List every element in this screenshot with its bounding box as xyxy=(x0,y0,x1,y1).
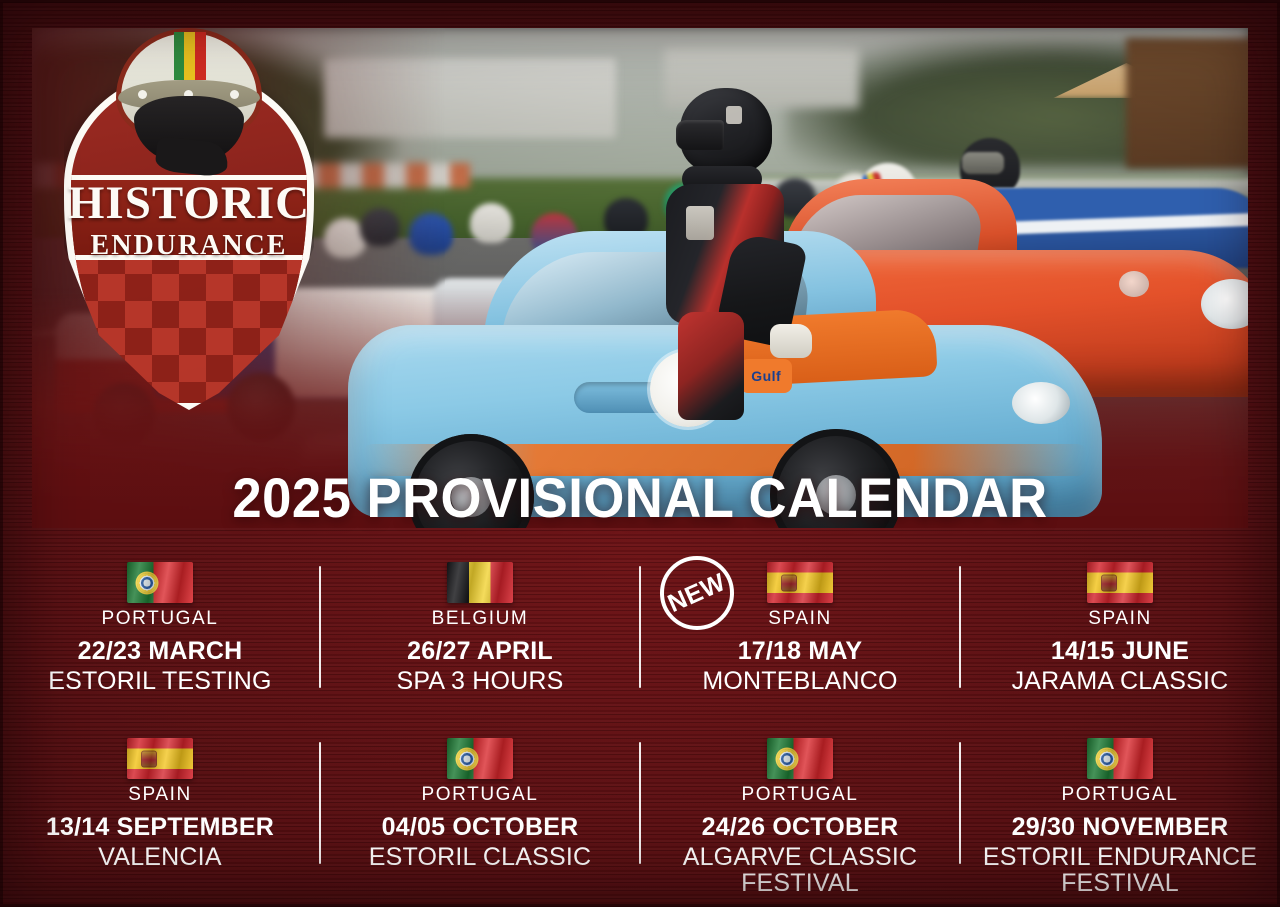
event-card-7[interactable]: PORTUGAL 24/26 OCTOBER ALGARVE CLASSIC F… xyxy=(640,724,960,900)
helmet-stripes xyxy=(174,32,206,80)
flag-portugal-icon xyxy=(127,562,193,603)
helmet-visor xyxy=(676,120,724,150)
event-card-2[interactable]: BELGIUM 26/27 APRIL SPA 3 HOURS xyxy=(320,548,640,724)
event-dates: 22/23 MARCH xyxy=(78,637,243,666)
event-name: ALGARVE CLASSIC FESTIVAL xyxy=(640,844,960,897)
event-country: SPAIN xyxy=(128,784,192,806)
helmet-rivet xyxy=(230,90,239,99)
event-name: JARAMA CLASSIC xyxy=(1012,668,1229,694)
photo-helmet-5 xyxy=(409,213,453,255)
event-country: SPAIN xyxy=(768,608,832,630)
event-card-6[interactable]: PORTUGAL 04/05 OCTOBER ESTORIL CLASSIC xyxy=(320,724,640,900)
calendar-row-2: SPAIN 13/14 SEPTEMBER VALENCIA PORTUGAL … xyxy=(0,724,1280,900)
photo-wall xyxy=(1126,38,1248,168)
photo-helmet-6 xyxy=(470,203,512,243)
flag-portugal-icon xyxy=(447,738,513,779)
event-dates: 13/14 SEPTEMBER xyxy=(46,813,274,842)
event-country: PORTUGAL xyxy=(422,784,539,806)
event-name: SPA 3 HOURS xyxy=(396,668,563,694)
event-dates: 17/18 MAY xyxy=(738,637,863,666)
event-country: PORTUGAL xyxy=(1062,784,1179,806)
photo-main-driver xyxy=(652,88,802,418)
driver-leg xyxy=(678,312,744,420)
helmet-visor xyxy=(962,152,1004,174)
checkered-flag-pattern xyxy=(71,247,307,403)
calendar-grid: PORTUGAL 22/23 MARCH ESTORIL TESTING BEL… xyxy=(0,548,1280,900)
event-name: VALENCIA xyxy=(98,844,221,870)
event-dates: 26/27 APRIL xyxy=(407,637,553,666)
event-card-8[interactable]: PORTUGAL 29/30 NOVEMBER ESTORIL ENDURANC… xyxy=(960,724,1280,900)
driver-glove xyxy=(770,324,812,358)
flag-spain-icon xyxy=(1087,562,1153,603)
event-name: MONTEBLANCO xyxy=(702,668,897,694)
event-name: ESTORIL ENDURANCE FESTIVAL xyxy=(960,844,1280,897)
photo-building-left xyxy=(324,58,616,138)
photo-helmet-4 xyxy=(360,208,400,246)
calendar-poster: 5 Gulf xyxy=(0,0,1280,907)
suit-sponsor-patch xyxy=(686,206,714,240)
page-title: 2025 PROVISIONAL CALENDAR xyxy=(38,465,1241,530)
gt40-headlamp xyxy=(1012,382,1070,424)
logo-endurance-text: ENDURANCE xyxy=(64,229,314,263)
event-dates: 04/05 OCTOBER xyxy=(382,813,579,842)
logo-helmet-icon xyxy=(116,28,262,164)
flag-spain-icon xyxy=(127,738,193,779)
calendar-row-1: PORTUGAL 22/23 MARCH ESTORIL TESTING BEL… xyxy=(0,548,1280,724)
new-badge: NEW xyxy=(660,556,734,630)
historic-endurance-logo: HISTORIC ENDURANCE xyxy=(64,28,314,418)
flag-portugal-icon xyxy=(767,738,833,779)
event-name: ESTORIL CLASSIC xyxy=(369,844,592,870)
event-dates: 14/15 JUNE xyxy=(1051,637,1189,666)
flag-portugal-icon xyxy=(1087,738,1153,779)
event-card-5[interactable]: SPAIN 13/14 SEPTEMBER VALENCIA xyxy=(0,724,320,900)
porsche-headlamp-secondary xyxy=(1119,271,1149,297)
event-country: BELGIUM xyxy=(432,608,529,630)
event-dates: 24/26 OCTOBER xyxy=(702,813,899,842)
helmet-rivet xyxy=(138,90,147,99)
flag-belgium-icon xyxy=(447,562,513,603)
event-country: SPAIN xyxy=(1088,608,1152,630)
event-country: PORTUGAL xyxy=(742,784,859,806)
event-dates: 29/30 NOVEMBER xyxy=(1012,813,1229,842)
event-card-4[interactable]: SPAIN 14/15 JUNE JARAMA CLASSIC xyxy=(960,548,1280,724)
event-country: PORTUGAL xyxy=(102,608,219,630)
event-card-1[interactable]: PORTUGAL 22/23 MARCH ESTORIL TESTING xyxy=(0,548,320,724)
event-card-3[interactable]: NEW SPAIN 17/18 MAY MONTEBLANCO xyxy=(640,548,960,724)
helmet-badge xyxy=(726,106,742,124)
logo-historic-text: HISTORIC xyxy=(64,180,314,227)
flag-spain-icon xyxy=(767,562,833,603)
new-badge-label: NEW xyxy=(664,568,730,619)
event-name: ESTORIL TESTING xyxy=(48,668,271,694)
logo-wordmark: HISTORIC ENDURANCE xyxy=(64,180,314,263)
